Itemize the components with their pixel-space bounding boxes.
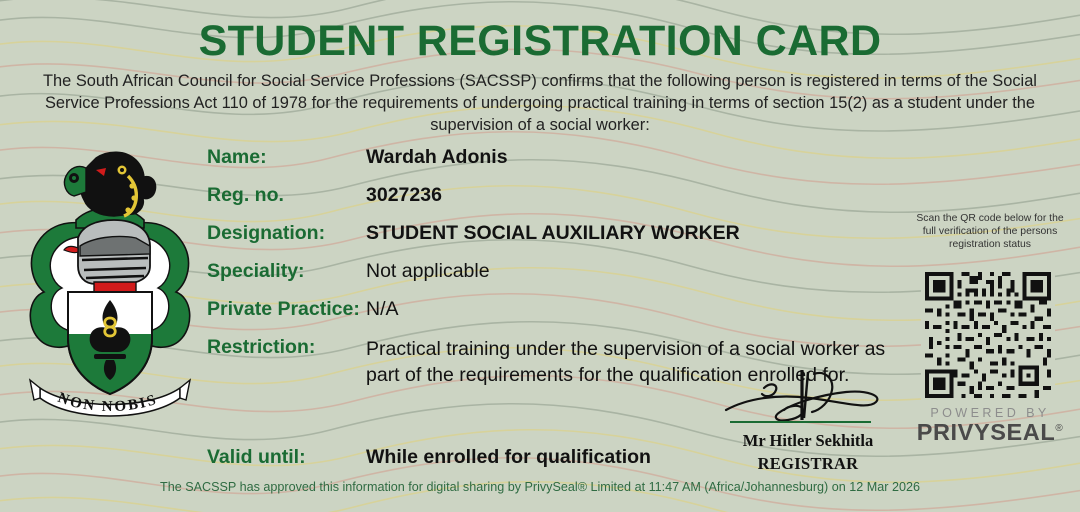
qr-instruction-text: Scan the QR code below for the full veri…: [912, 212, 1068, 251]
field-row-reg-no: Reg. no. 3027236: [207, 184, 907, 222]
field-value: While enrolled for qualification: [366, 446, 651, 469]
field-value: 3027236: [366, 184, 442, 207]
field-row-speciality: Speciality: Not applicable: [207, 260, 907, 298]
field-row-private-practice: Private Practice: N/A: [207, 298, 907, 336]
student-registration-card: STUDENT REGISTRATION CARD The South Afri…: [0, 0, 1080, 512]
field-label: Private Practice:: [207, 298, 360, 321]
field-label: Name:: [207, 146, 267, 169]
field-label: Reg. no.: [207, 184, 284, 207]
powered-by-label: POWERED BY: [912, 406, 1068, 420]
footer-approval-text: The SACSSP has approved this information…: [0, 480, 1080, 494]
registrar-role: REGISTRAR: [718, 454, 898, 474]
privyseal-brand: PRIVYSEAL®: [912, 419, 1068, 446]
field-value: STUDENT SOCIAL AUXILIARY WORKER: [366, 222, 740, 245]
field-value: Not applicable: [366, 260, 490, 283]
registered-mark-icon: ®: [1055, 423, 1063, 434]
field-row-designation: Designation: STUDENT SOCIAL AUXILIARY WO…: [207, 222, 907, 260]
field-label: Speciality:: [207, 260, 305, 283]
field-label: Restriction:: [207, 336, 315, 359]
privyseal-brand-text: PRIVYSEAL: [917, 419, 1056, 445]
field-row-name: Name: Wardah Adonis: [207, 146, 907, 184]
qr-code[interactable]: [921, 268, 1055, 402]
signature-rule: [730, 421, 871, 423]
registrar-signature: [718, 368, 898, 426]
coat-of-arms-emblem: NON NOBIS: [22, 142, 198, 432]
intro-paragraph: The South African Council for Social Ser…: [30, 70, 1050, 136]
field-value: Wardah Adonis: [366, 146, 508, 169]
registrar-name: Mr Hitler Sekhitla: [718, 431, 898, 451]
field-value: N/A: [366, 298, 399, 321]
field-label: Valid until:: [207, 446, 306, 469]
field-label: Designation:: [207, 222, 325, 245]
page-title: STUDENT REGISTRATION CARD: [0, 19, 1080, 64]
